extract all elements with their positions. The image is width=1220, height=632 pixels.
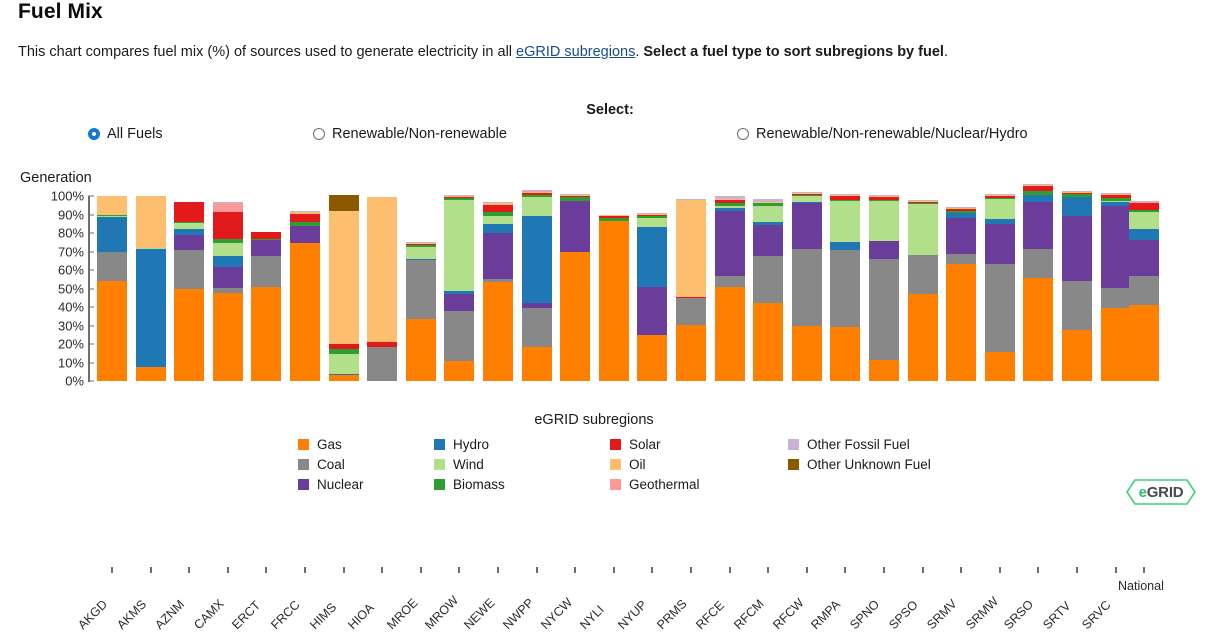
bar-segment-hydro[interactable] [444, 291, 474, 294]
bar-segment-coal[interactable] [1101, 288, 1131, 308]
legend-swatch[interactable] [434, 459, 445, 470]
bar-segment-other-fossil-fuel[interactable] [1101, 193, 1131, 194]
bar-segment-gas[interactable] [406, 319, 436, 381]
bar-segment-coal[interactable] [753, 256, 783, 303]
bar-segment-hydro[interactable] [136, 249, 166, 367]
bar-segment-gas[interactable] [1023, 278, 1053, 381]
legend-item-other-unknown-fuel[interactable]: Other Unknown Fuel [788, 457, 931, 472]
bar-segment-other-fossil-fuel[interactable] [1129, 201, 1159, 202]
bar-segment-solar[interactable] [599, 215, 629, 218]
bar-segment-biomass[interactable] [792, 195, 822, 196]
bar-segment-other-fossil-fuel[interactable] [792, 192, 822, 193]
bar-segment-hydro[interactable] [213, 256, 243, 267]
x-tick-label[interactable]: NWPP [500, 596, 536, 632]
legend-swatch[interactable] [434, 439, 445, 450]
bar-stack [753, 196, 783, 381]
bar-segment-oil[interactable] [1129, 202, 1159, 203]
legend-swatch[interactable] [788, 459, 799, 470]
bar-segment-biomass[interactable] [946, 211, 976, 213]
bar-segment-wind[interactable] [136, 248, 166, 249]
bar-segment-oil[interactable] [136, 196, 166, 248]
bar-segment-wind[interactable] [908, 204, 938, 255]
bar-segment-solar[interactable] [483, 205, 513, 211]
bar-segment-wind[interactable] [174, 223, 204, 229]
bar-segment-gas[interactable] [483, 282, 513, 381]
x-tick-mark [960, 567, 962, 573]
bar-segment-other-fossil-fuel[interactable] [676, 199, 706, 200]
bar-segment-wind[interactable] [97, 216, 127, 217]
bar-segment-hydro[interactable] [483, 224, 513, 233]
bar-segment-coal[interactable] [1062, 281, 1092, 330]
bar-stack [830, 196, 860, 381]
bar-segment-hydro[interactable] [1023, 195, 1053, 202]
x-tick-label[interactable]: HIOA [345, 601, 377, 632]
page-title: Fuel Mix [18, 0, 103, 24]
x-tick-label[interactable]: SPNO [847, 597, 882, 632]
bar-segment-oil[interactable] [599, 215, 629, 216]
bar-segment-other-fossil-fuel[interactable] [985, 194, 1015, 195]
bar-segment-wind[interactable] [444, 200, 474, 292]
bar-segment-gas[interactable] [676, 325, 706, 381]
bar-segment-gas[interactable] [290, 243, 320, 381]
bar-segment-biomass[interactable] [483, 212, 513, 217]
x-tick-mark [1076, 567, 1078, 573]
y-tick-label: 20% [58, 337, 84, 352]
bar-segment-solar[interactable] [676, 297, 706, 298]
bar-segment-gas[interactable] [444, 361, 474, 381]
legend-item-hydro[interactable]: Hydro [434, 437, 489, 452]
x-tick-label[interactable]: SRVC [1079, 598, 1113, 632]
bar-segment-oil[interactable] [946, 208, 976, 209]
bar-segment-biomass[interactable] [715, 203, 745, 206]
bar-segment-coal[interactable] [908, 255, 938, 294]
bar-segment-oil[interactable] [869, 196, 899, 197]
x-tick-mark [343, 567, 345, 573]
bar-segment-hydro[interactable] [946, 213, 976, 219]
bar-segment-biomass[interactable] [985, 198, 1015, 199]
bar-segment-solar[interactable] [985, 196, 1015, 198]
x-tick-label[interactable]: SPSO [886, 598, 920, 632]
bar-segment-wind[interactable] [753, 206, 783, 222]
bar-segment-biomass[interactable] [637, 215, 667, 218]
bar-segment-coal[interactable] [213, 288, 243, 294]
y-tick-label: 10% [58, 355, 84, 370]
legend-item-wind[interactable]: Wind [434, 457, 484, 472]
x-tick-label[interactable]: SRMW [963, 594, 1001, 632]
bar-segment-biomass[interactable] [174, 222, 204, 223]
x-tick-label[interactable]: AKGD [75, 597, 110, 632]
x-tick-label[interactable]: SRTV [1040, 599, 1073, 632]
bar-stack [1129, 196, 1159, 381]
bar-segment-gas[interactable] [174, 289, 204, 381]
bar-segment-gas[interactable] [908, 294, 938, 381]
bar-segment-hydro[interactable] [97, 217, 127, 251]
bar-segment-coal[interactable] [869, 259, 899, 360]
bar-segment-solar[interactable] [753, 202, 783, 203]
bar-segment-biomass[interactable] [213, 239, 243, 244]
bar-segment-solar[interactable] [367, 342, 397, 347]
bar-segment-wind[interactable] [483, 216, 513, 223]
bar-segment-biomass[interactable] [1129, 210, 1159, 212]
bar-segment-solar[interactable] [1023, 186, 1053, 192]
x-tick-label[interactable]: National [1118, 579, 1164, 593]
bar-segment-other-fossil-fuel[interactable] [483, 202, 513, 203]
x-tick-label[interactable]: SRMV [924, 597, 959, 632]
bar-segment-gas[interactable] [599, 221, 629, 381]
bar-segment-oil[interactable] [560, 195, 590, 196]
bar-segment-nuclear[interactable] [1101, 206, 1131, 287]
plot-area: AKGDAKMSAZNMCAMXERCTFRCCHIMSHIOAMROEMROW… [94, 196, 1196, 381]
bar-segment-coal[interactable] [483, 279, 513, 282]
bar-segment-nuclear[interactable] [869, 241, 899, 259]
bar-segment-solar[interactable] [869, 197, 899, 200]
bar-segment-gas[interactable] [830, 327, 860, 381]
bar-segment-solar[interactable] [637, 215, 667, 216]
bar-segment-other-fossil-fuel[interactable] [908, 200, 938, 201]
legend-swatch[interactable] [434, 479, 445, 490]
bar-segment-coal[interactable] [1129, 276, 1159, 306]
bar-segment-biomass[interactable] [444, 198, 474, 200]
bar-segment-oil[interactable] [97, 196, 127, 215]
bar-segment-gas[interactable] [637, 335, 667, 381]
bar-segment-coal[interactable] [946, 254, 976, 263]
bar-segment-solar[interactable] [213, 212, 243, 239]
bar-stack [367, 196, 397, 381]
x-tick-label[interactable]: MROE [384, 596, 420, 632]
bar-segment-hydro[interactable] [753, 222, 783, 225]
bar-segment-solar[interactable] [522, 193, 552, 195]
x-tick-label[interactable]: RMPA [809, 597, 844, 632]
bar-segment-gas[interactable] [869, 360, 899, 381]
bar-stack [1023, 196, 1053, 381]
bar-segment-biomass[interactable] [908, 203, 938, 204]
bar-segment-nuclear[interactable] [637, 287, 667, 335]
bar-segment-other-fossil-fuel[interactable] [560, 194, 590, 195]
legend-item-solar[interactable]: Solar [610, 437, 661, 452]
bar-segment-biomass[interactable] [560, 197, 590, 201]
bar-segment-wind[interactable] [830, 201, 860, 243]
bar-segment-biomass[interactable] [406, 245, 436, 247]
bar-segment-geothermal[interactable] [522, 191, 552, 192]
bar-segment-hydro[interactable] [1101, 202, 1131, 207]
bar-segment-wind[interactable] [406, 247, 436, 259]
radio-renewable-nonrenewable-nuclear-hydro[interactable]: Renewable/Non-renewable/Nuclear/Hydro [737, 124, 1028, 144]
bar-segment-biomass[interactable] [522, 195, 552, 197]
legend-item-other-fossil-fuel[interactable]: Other Fossil Fuel [788, 437, 910, 452]
bar-segment-nuclear[interactable] [1129, 240, 1159, 275]
x-tick-label[interactable]: PRMS [654, 597, 689, 632]
bar-segment-nuclear[interactable] [444, 294, 474, 311]
egrid-subregions-link[interactable]: eGRID subregions [516, 44, 635, 60]
bar-stack [599, 196, 629, 381]
bar-segment-nuclear[interactable] [213, 267, 243, 287]
bar-segment-oil[interactable] [830, 195, 860, 196]
bar-segment-biomass[interactable] [869, 200, 899, 201]
bar-segment-oil[interactable] [908, 201, 938, 202]
bar-segment-biomass[interactable] [1062, 194, 1092, 197]
bar-segment-other-fossil-fuel[interactable] [946, 207, 976, 208]
bar-segment-gas[interactable] [753, 303, 783, 381]
bar-segment-wind[interactable] [715, 206, 745, 208]
bar-segment-coal[interactable] [367, 347, 397, 381]
bar-segment-solar[interactable] [946, 209, 976, 211]
bar-segment-coal[interactable] [444, 311, 474, 361]
x-tick-label[interactable]: MROW [423, 593, 462, 632]
bar-segment-wind[interactable] [792, 196, 822, 202]
bar-segment-gas[interactable] [251, 287, 281, 381]
bar-segment-hydro[interactable] [830, 242, 860, 249]
bar-segment-solar[interactable] [715, 200, 745, 204]
x-tick-mark [922, 567, 924, 573]
y-tick-label: 60% [58, 263, 84, 278]
x-tick-mark [729, 567, 731, 573]
bar-segment-wind[interactable] [985, 199, 1015, 219]
legend-swatch[interactable] [788, 439, 799, 450]
bar-segment-solar[interactable] [1062, 193, 1092, 194]
bar-segment-oil[interactable] [1062, 192, 1092, 193]
bar-segment-hydro[interactable] [329, 374, 359, 375]
x-tick-label[interactable]: FRCC [268, 598, 302, 632]
bar-segment-oil[interactable] [406, 243, 436, 244]
bar-segment-wind[interactable] [329, 354, 359, 373]
bar-segment-oil[interactable] [985, 195, 1015, 196]
bar-stack [290, 196, 320, 381]
bar-segment-hydro[interactable] [251, 239, 281, 240]
bar-segment-nuclear[interactable] [560, 201, 590, 253]
bar-segment-hydro[interactable] [1129, 229, 1159, 240]
bar-segment-hydro[interactable] [985, 219, 1015, 224]
legend-swatch[interactable] [298, 479, 309, 490]
bar-segment-solar[interactable] [908, 202, 938, 204]
bar-segment-solar[interactable] [406, 244, 436, 245]
bar-stack [908, 196, 938, 381]
bar-segment-coal[interactable] [792, 249, 822, 326]
legend-item-oil[interactable]: Oil [610, 457, 646, 472]
bar-segment-hydro[interactable] [1062, 197, 1092, 216]
y-tick-label: 70% [58, 244, 84, 259]
x-tick-label[interactable]: RFCW [770, 596, 806, 632]
legend-item-coal[interactable]: Coal [298, 457, 345, 472]
bar-segment-wind[interactable] [1129, 212, 1159, 230]
bar-segment-nuclear[interactable] [174, 235, 204, 250]
radio-renewable-nonrenewable[interactable]: Renewable/Non-renewable [313, 124, 507, 144]
bar-segment-gas[interactable] [985, 352, 1015, 381]
bar-segment-other-fossil-fuel[interactable] [213, 202, 243, 203]
legend-item-gas[interactable]: Gas [298, 437, 342, 452]
bar-segment-other-fossil-fuel[interactable] [715, 196, 745, 199]
bar-segment-nuclear[interactable] [1062, 216, 1092, 281]
bar-segment-nuclear[interactable] [792, 203, 822, 248]
bar-segment-nuclear[interactable] [251, 240, 281, 256]
radio-renewable-nonrenewable-nuclear-hydro-label: Renewable/Non-renewable/Nuclear/Hydro [756, 126, 1028, 142]
bar-segment-hydro[interactable] [715, 208, 745, 211]
bar-segment-gas[interactable] [1129, 305, 1159, 381]
bar-segment-oil[interactable] [1023, 185, 1053, 186]
bar-segment-other-fossil-fuel[interactable] [830, 194, 860, 195]
bar-segment-biomass[interactable] [251, 239, 281, 240]
x-tick-label[interactable]: CAMX [191, 597, 226, 632]
bar-segment-hydro[interactable] [174, 229, 204, 235]
legend-swatch[interactable] [298, 459, 309, 470]
bar-segment-coal[interactable] [522, 308, 552, 347]
bar-segment-gas[interactable] [792, 326, 822, 382]
legend-label: Oil [629, 457, 646, 472]
bar-segment-oil[interactable] [522, 192, 552, 193]
legend-label: Nuclear [317, 477, 364, 492]
bar-segment-gas[interactable] [136, 367, 166, 381]
bar-segment-hydro[interactable] [406, 259, 436, 260]
legend-item-biomass[interactable]: Biomass [434, 477, 505, 492]
bar-segment-other-fossil-fuel[interactable] [290, 211, 320, 212]
egrid-logo-e: e [1139, 484, 1147, 501]
bar-segment-hydro[interactable] [637, 227, 667, 287]
bar-segment-other-fossil-fuel[interactable] [869, 195, 899, 196]
x-tick-label[interactable]: HIMS [307, 600, 339, 632]
legend-label: Other Fossil Fuel [807, 437, 910, 452]
bar-segment-other-fossil-fuel[interactable] [753, 199, 783, 202]
legend-swatch[interactable] [610, 439, 621, 450]
bar-segment-solar[interactable] [174, 202, 204, 221]
bar-segment-oil[interactable] [792, 193, 822, 194]
x-tick-label[interactable]: SRSO [1002, 597, 1037, 632]
bar-segment-other-fossil-fuel[interactable] [637, 213, 667, 214]
bar-segment-biomass[interactable] [1101, 198, 1131, 201]
bar-segment-solar[interactable] [444, 197, 474, 198]
x-tick-label[interactable]: RFCE [693, 598, 727, 632]
bar-segment-gas[interactable] [213, 293, 243, 381]
x-tick-label[interactable]: RFCM [731, 597, 766, 632]
x-tick-label[interactable]: NEWE [461, 596, 497, 632]
bar-segment-biomass[interactable] [830, 200, 860, 201]
x-tick-label[interactable]: AZNM [152, 597, 187, 632]
legend-item-nuclear[interactable]: Nuclear [298, 477, 364, 492]
bar-segment-gas[interactable] [946, 264, 976, 381]
bar-segment-oil[interactable] [483, 203, 513, 205]
bar-segment-solar[interactable] [560, 196, 590, 197]
bar-segment-nuclear[interactable] [715, 211, 745, 276]
bar-segment-oil[interactable] [329, 211, 359, 344]
bar-segment-coal[interactable] [676, 298, 706, 325]
bar-segment-solar[interactable] [251, 232, 281, 238]
radio-renewable-nonrenewable-dot[interactable] [313, 128, 325, 140]
bar-segment-nuclear[interactable] [522, 303, 552, 308]
bar-segment-oil[interactable] [290, 212, 320, 214]
legend-label: Solar [629, 437, 661, 452]
bar-segment-other-unknown-fuel[interactable] [329, 195, 359, 211]
y-tick-label: 50% [58, 281, 84, 296]
bar-segment-wind[interactable] [1101, 201, 1131, 202]
bar-segment-other-fossil-fuel[interactable] [444, 195, 474, 196]
bar-segment-coal[interactable] [715, 276, 745, 287]
bar-segment-biomass[interactable] [290, 222, 320, 226]
bar-segment-oil[interactable] [1101, 194, 1131, 195]
x-tick-label[interactable]: NYLI [577, 603, 607, 632]
legend-swatch[interactable] [298, 439, 309, 450]
bar-segment-coal[interactable] [251, 256, 281, 287]
bar-segment-nuclear[interactable] [483, 233, 513, 279]
bar-segment-oil[interactable] [753, 202, 783, 203]
bar-segment-solar[interactable] [1101, 195, 1131, 198]
x-tick-label[interactable]: NYCW [538, 595, 575, 632]
bar-segment-geothermal[interactable] [1129, 202, 1159, 203]
y-tick-label: 30% [58, 318, 84, 333]
legend-swatch[interactable] [610, 459, 621, 470]
radio-renewable-nonrenewable-label: Renewable/Non-renewable [332, 126, 507, 142]
bar-segment-solar[interactable] [290, 214, 320, 222]
bar-segment-coal[interactable] [97, 252, 127, 282]
radio-all-fuels-dot[interactable] [88, 128, 100, 140]
radio-renewable-nonrenewable-nuclear-hydro-dot[interactable] [737, 128, 749, 140]
bar-stack [97, 196, 127, 381]
bar-segment-solar[interactable] [1129, 203, 1159, 209]
legend-item-geothermal[interactable]: Geothermal [610, 477, 700, 492]
bar-segment-biomass[interactable] [97, 215, 127, 217]
bar-segment-oil[interactable] [444, 196, 474, 197]
bar-segment-nuclear[interactable] [1023, 202, 1053, 248]
bar-segment-wind[interactable] [869, 201, 899, 242]
bar-segment-gas[interactable] [329, 375, 359, 381]
bar-segment-gas[interactable] [1101, 308, 1131, 381]
bar-segment-geothermal[interactable] [213, 203, 243, 211]
bar-segment-other-fossil-fuel[interactable] [406, 242, 436, 243]
bar-segment-wind[interactable] [213, 243, 243, 256]
bar-stack [792, 196, 822, 381]
bar-segment-gas[interactable] [1062, 330, 1092, 381]
bar-segment-wind[interactable] [637, 218, 667, 226]
bar-segment-gas[interactable] [715, 287, 745, 381]
x-tick-mark [690, 567, 692, 573]
bar-segment-biomass[interactable] [329, 349, 359, 355]
bar-segment-coal[interactable] [985, 264, 1015, 352]
bar-segment-gas[interactable] [560, 252, 590, 381]
bar-segment-biomass[interactable] [1023, 191, 1053, 195]
bar-segment-other-fossil-fuel[interactable] [1023, 184, 1053, 185]
bar-segment-wind[interactable] [522, 197, 552, 216]
x-tick-label[interactable]: NYUP [616, 598, 650, 632]
radio-all-fuels[interactable]: All Fuels [88, 124, 163, 144]
bar-segment-oil[interactable] [637, 214, 667, 215]
bar-segment-solar[interactable] [329, 344, 359, 349]
y-tick-label: 40% [58, 300, 84, 315]
x-tick-mark [767, 567, 769, 573]
bar-segment-solar[interactable] [830, 196, 860, 200]
bar-segment-solar[interactable] [792, 194, 822, 195]
bar-segment-nuclear[interactable] [946, 218, 976, 254]
bar-segment-nuclear[interactable] [753, 225, 783, 256]
bar-segment-biomass[interactable] [753, 203, 783, 206]
bar-segment-oil[interactable] [367, 197, 397, 342]
bar-segment-hydro[interactable] [522, 216, 552, 303]
bar-segment-coal[interactable] [1023, 249, 1053, 279]
bar-segment-other-fossil-fuel[interactable] [1062, 191, 1092, 192]
bar-segment-coal[interactable] [406, 260, 436, 319]
bar-segment-other-fossil-fuel[interactable] [522, 190, 552, 191]
bar-segment-oil[interactable] [676, 200, 706, 297]
legend-swatch[interactable] [610, 479, 621, 490]
bar-segment-nuclear[interactable] [290, 226, 320, 244]
bar-segment-nuclear[interactable] [985, 224, 1015, 265]
bar-segment-gas[interactable] [522, 347, 552, 381]
bar-segment-coal[interactable] [174, 250, 204, 290]
bar-segment-coal[interactable] [830, 250, 860, 328]
bar-segment-gas[interactable] [97, 281, 127, 381]
legend-label: Gas [317, 437, 342, 452]
bar-segment-hydro[interactable] [792, 202, 822, 204]
bar-segment-oil[interactable] [715, 199, 745, 200]
x-tick-label[interactable]: ERCT [230, 598, 264, 632]
bar-segment-biomass[interactable] [599, 218, 629, 221]
x-tick-label[interactable]: AKMS [114, 597, 149, 632]
